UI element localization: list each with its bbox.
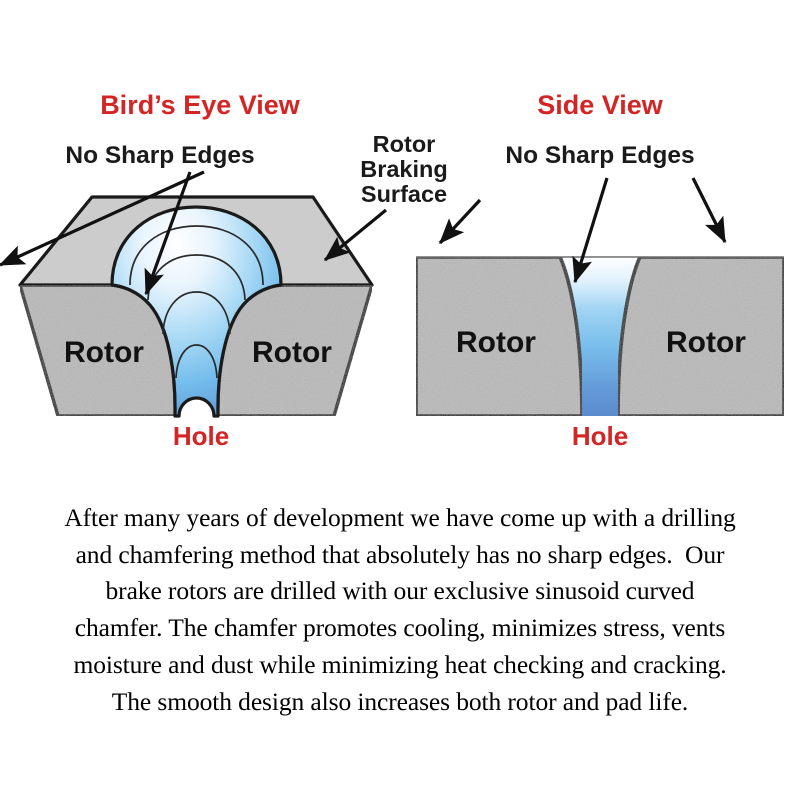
birds-eye-rotor-left-label: Rotor bbox=[64, 336, 144, 369]
diagram-area: Bird’s Eye View No Sharp Edges Rotor Bra… bbox=[0, 0, 800, 470]
braking-surface-label-line-2: Braking bbox=[360, 156, 448, 182]
braking-surface-label-line-1: Rotor bbox=[373, 131, 436, 157]
caption-line-5: moisture and dust while minimizing heat … bbox=[73, 647, 726, 684]
caption-line-3: brake rotors are drilled with our exclus… bbox=[106, 573, 695, 610]
caption-line-2: and chamfering method that absolutely ha… bbox=[76, 537, 725, 574]
caption-line-1: After many years of development we have … bbox=[64, 500, 735, 537]
braking-surface-label-line-3: Surface bbox=[361, 181, 447, 207]
diagram-svg: Bird’s Eye View No Sharp Edges Rotor Bra… bbox=[0, 0, 800, 470]
birds-eye-view-group: Bird’s Eye View No Sharp Edges Rotor Bra… bbox=[0, 90, 448, 451]
side-view-rotor-left-label: Rotor bbox=[456, 326, 536, 359]
birds-eye-rotor-right-label: Rotor bbox=[252, 336, 332, 369]
side-view-arrow-right-chamfer bbox=[693, 178, 725, 242]
birds-eye-no-sharp-edges-label: No Sharp Edges bbox=[65, 142, 254, 169]
caption-line-4: chamfer. The chamfer promotes cooling, m… bbox=[75, 610, 726, 647]
side-view-hole-label: Hole bbox=[572, 421, 628, 451]
rotor-chamfer-infographic: Bird’s Eye View No Sharp Edges Rotor Bra… bbox=[0, 0, 800, 800]
side-view-heading: Side View bbox=[537, 90, 664, 120]
caption-paragraph: After many years of development we have … bbox=[0, 500, 800, 780]
side-view-rotor-right-label: Rotor bbox=[666, 326, 746, 359]
side-view-group: Side View No Sharp Edges Rotor Rotor Hol… bbox=[416, 90, 784, 451]
caption-line-6: The smooth design also increases both ro… bbox=[112, 684, 688, 721]
birds-eye-hole-label: Hole bbox=[173, 421, 229, 451]
side-view-no-sharp-edges-label: No Sharp Edges bbox=[505, 142, 694, 169]
birds-eye-heading: Bird’s Eye View bbox=[100, 90, 301, 120]
